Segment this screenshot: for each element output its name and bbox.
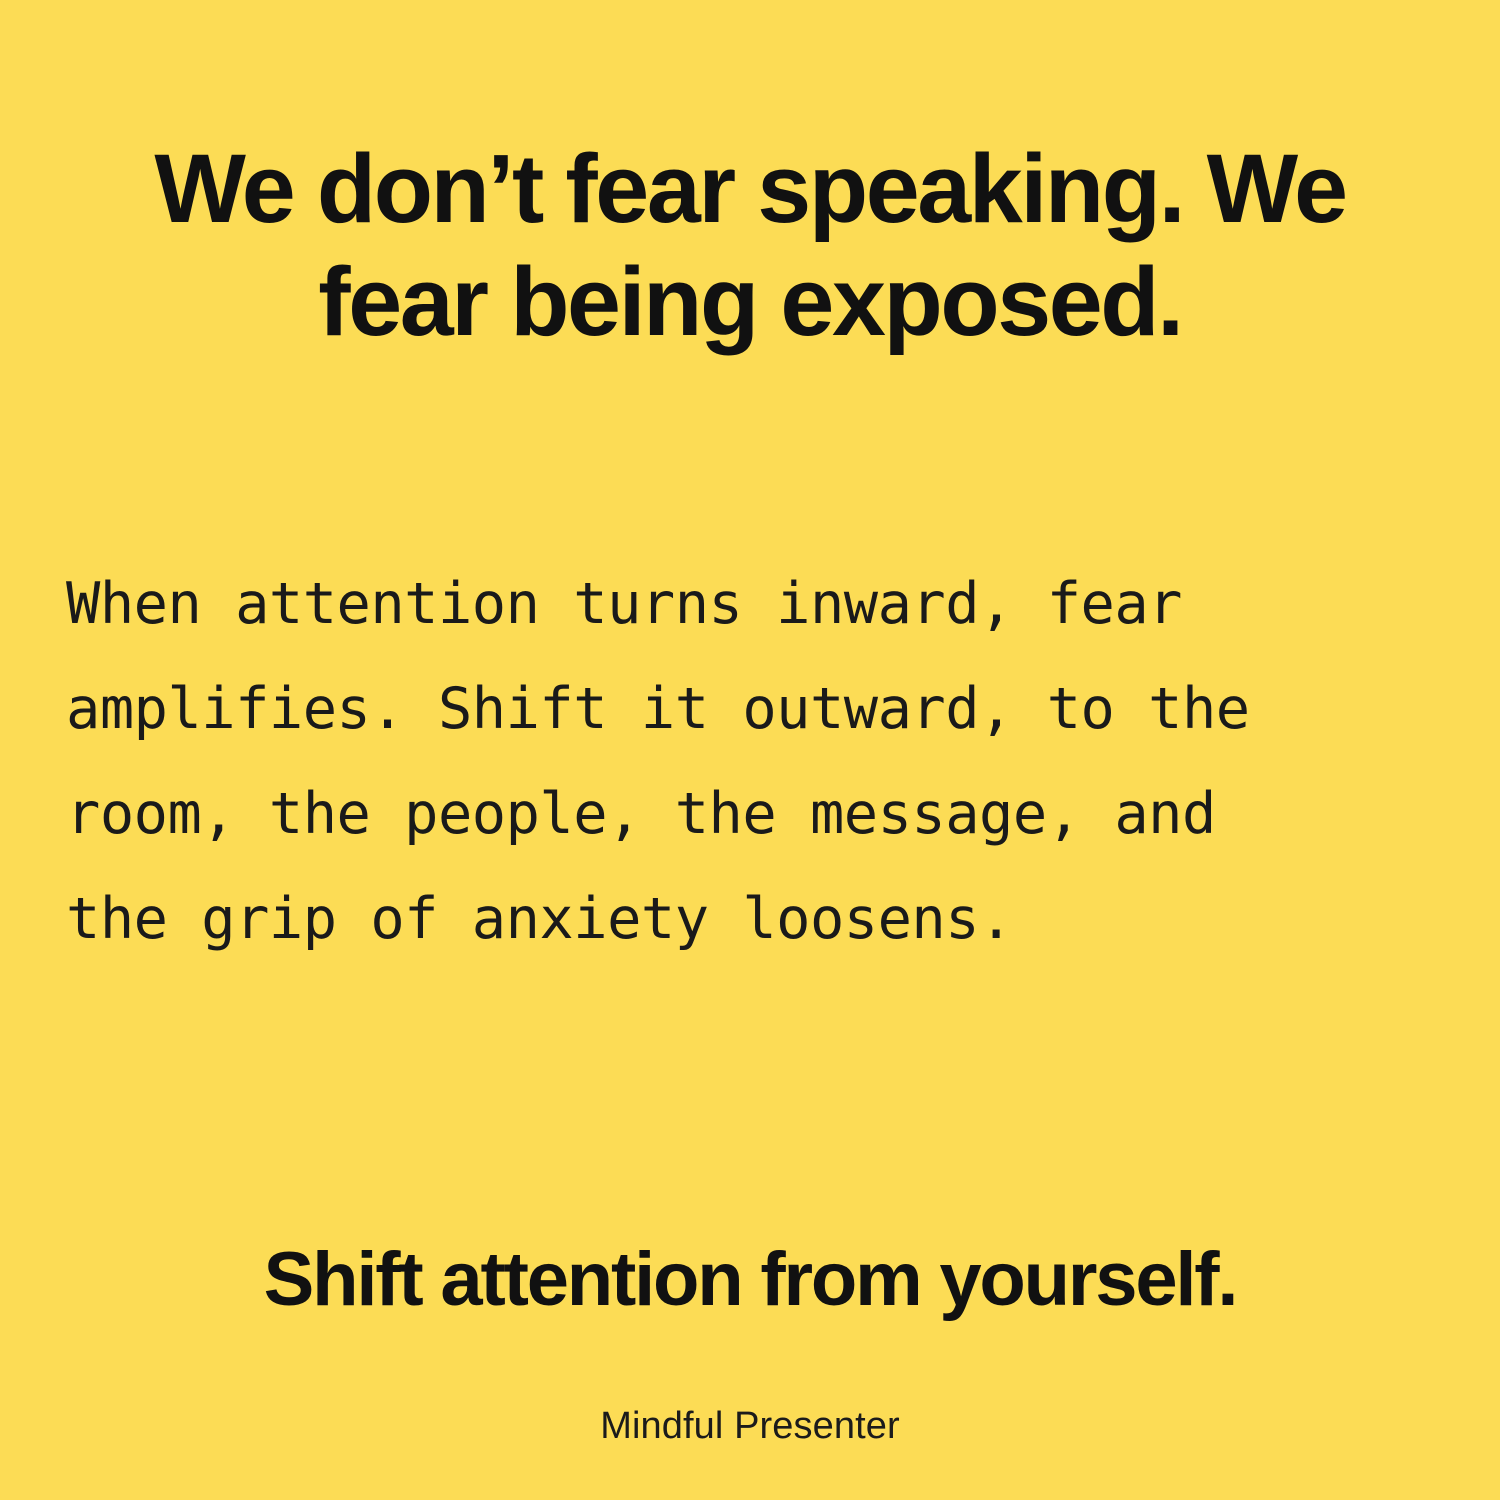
attribution: Mindful Presenter <box>0 1403 1500 1449</box>
closing-statement: Shift attention from yourself. <box>0 1237 1500 1323</box>
headline: We don’t fear speaking. We fear being ex… <box>0 132 1500 358</box>
headline-line-2: fear being exposed. <box>110 245 1390 358</box>
body-paragraph: When attention turns inward, fear amplif… <box>66 552 1446 972</box>
body-line-2: amplifies. Shift it outward, to the <box>66 657 1446 762</box>
body-line-4: the grip of anxiety loosens. <box>66 867 1446 972</box>
headline-line-1: We don’t fear speaking. We <box>110 132 1390 245</box>
quote-card: We don’t fear speaking. We fear being ex… <box>0 0 1500 1500</box>
body-line-1: When attention turns inward, fear <box>66 552 1446 657</box>
body-line-3: room, the people, the message, and <box>66 762 1446 867</box>
